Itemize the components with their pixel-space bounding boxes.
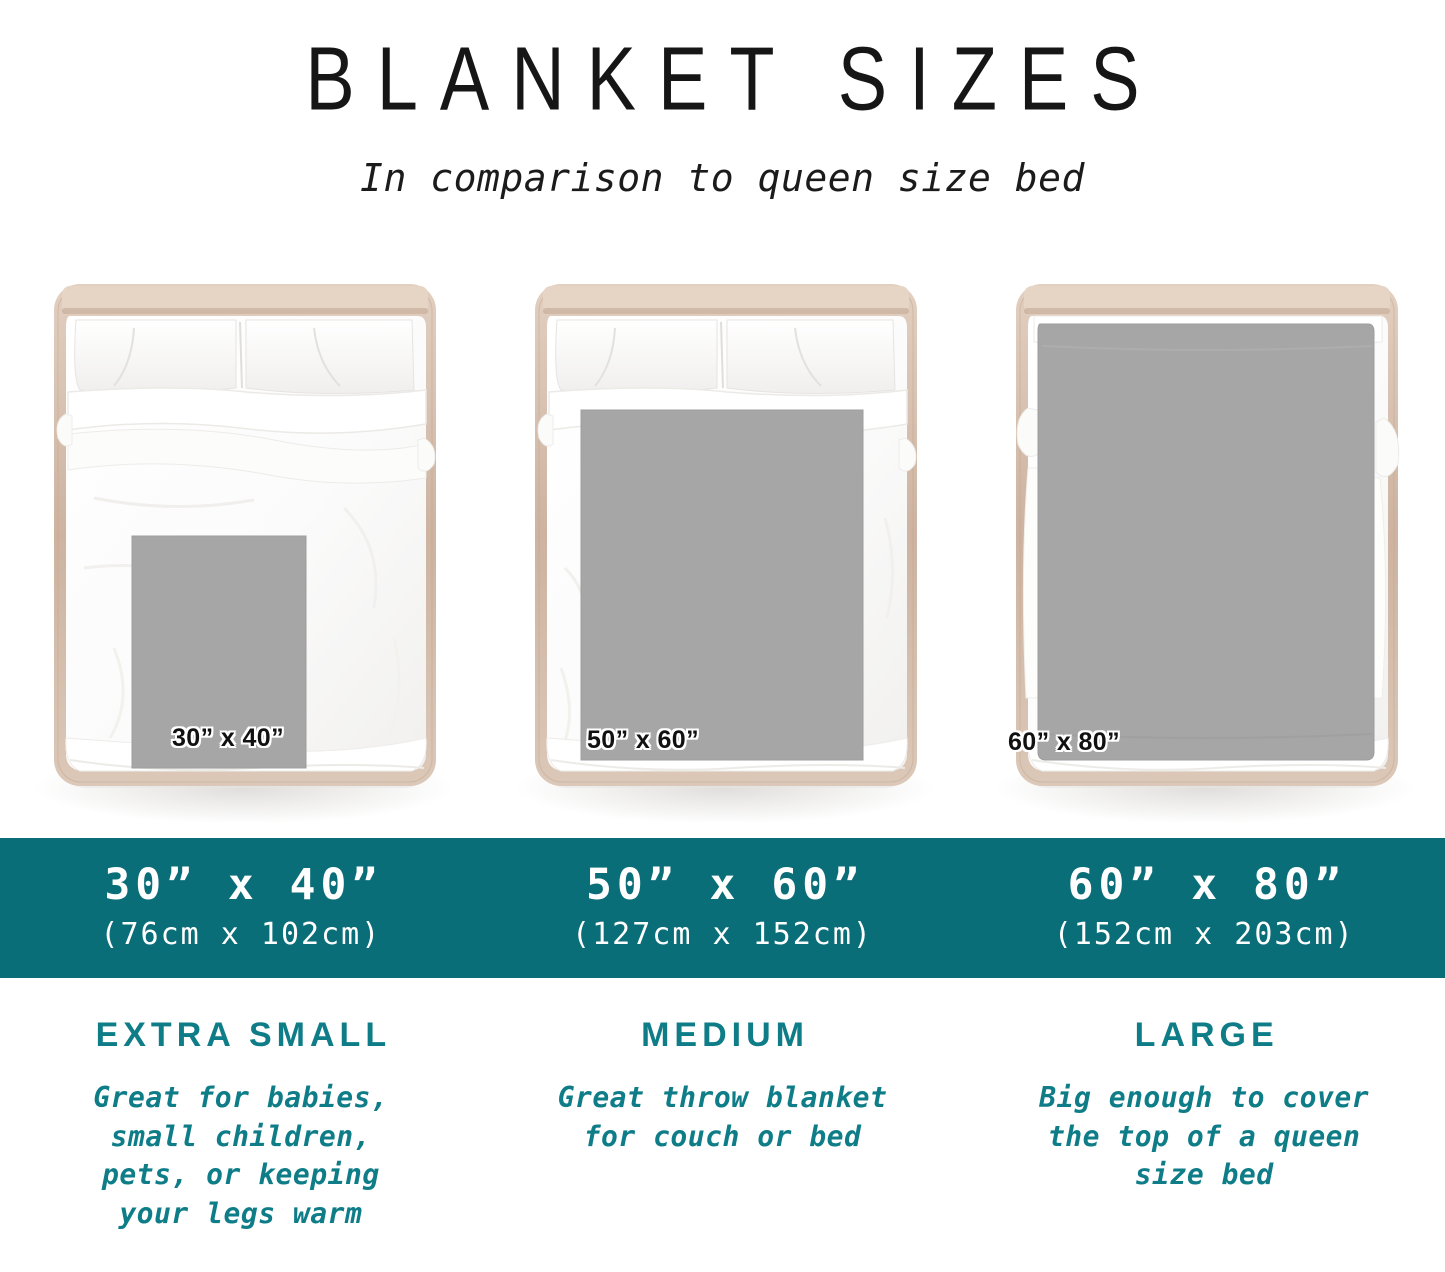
dimensions-banner: 30” x 40” (76cm x 102cm) 50” x 60” (127c… (0, 838, 1445, 978)
size-description-large: Big enough to cover the top of a queen s… (981, 1055, 1427, 1195)
size-description-extra-small: Great for babies, small children, pets, … (18, 1055, 464, 1234)
descriptions-row: EXTRA SMALL Great for babies, small chil… (0, 1000, 1445, 1272)
bed-illustration-large: 60” x 80” (976, 268, 1431, 828)
size-heading-large: LARGE (981, 1000, 1427, 1055)
description-column-large: LARGE Big enough to cover the top of a q… (963, 1000, 1445, 1272)
blanket-size-overlay-label: 50” x 60” (587, 726, 699, 755)
description-column-extra-small: EXTRA SMALL Great for babies, small chil… (0, 1000, 482, 1272)
size-heading-medium: MEDIUM (500, 1000, 946, 1055)
banner-inches-medium: 50” x 60” (581, 863, 864, 908)
banner-inches-large: 60” x 80” (1063, 863, 1346, 908)
banner-cm-large: (152cm x 203cm) (1054, 909, 1355, 953)
banner-column-large: 60” x 80” (152cm x 203cm) (963, 838, 1445, 978)
size-heading-extra-small: EXTRA SMALL (18, 1000, 464, 1055)
blanket-size-overlay-label: 60” x 80” (1008, 728, 1120, 757)
banner-cm-medium: (127cm x 152cm) (572, 909, 873, 953)
page-title: BLANKET SIZES (0, 34, 1445, 124)
banner-column-medium: 50” x 60” (127cm x 152cm) (482, 838, 964, 978)
bed-illustration-medium: 50” x 60” (495, 268, 950, 828)
size-description-medium: Great throw blanket for couch or bed (500, 1055, 946, 1156)
banner-cm-extra-small: (76cm x 102cm) (100, 909, 381, 953)
blanket-size-overlay-label: 30” x 40” (172, 724, 284, 753)
bed-illustration-extra-small: 30” x 40” (14, 268, 469, 828)
description-column-medium: MEDIUM Great throw blanket for couch or … (482, 1000, 964, 1272)
banner-column-extra-small: 30” x 40” (76cm x 102cm) (0, 838, 482, 978)
banner-inches-extra-small: 30” x 40” (99, 863, 382, 908)
bed-comparison-row: 30” x 40” (0, 268, 1445, 838)
page-header: BLANKET SIZES In comparison to queen siz… (0, 0, 1445, 200)
bed-top-view-graphic (495, 268, 950, 828)
